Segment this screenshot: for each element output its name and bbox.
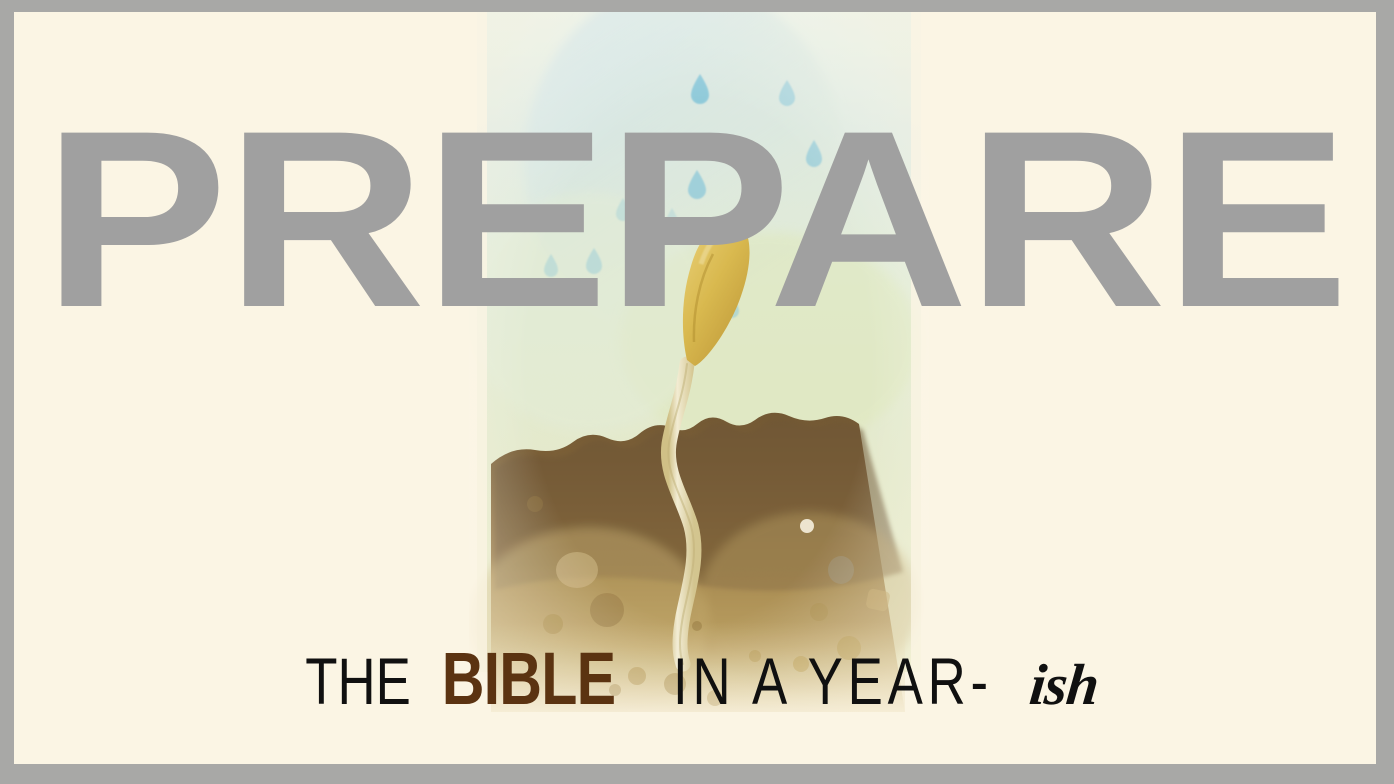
- page-title: PREPARE: [14, 104, 1376, 336]
- title-ish: ish: [1027, 656, 1101, 714]
- title-in-a-year: IN A YEAR-: [673, 648, 993, 714]
- paper-background: PREPARE THEBIBLEIN A YEAR-ish: [14, 12, 1376, 764]
- series-title: THEBIBLEIN A YEAR-ish: [14, 642, 1376, 716]
- title-the: THE: [305, 648, 411, 714]
- slide-canvas: PREPARE THEBIBLEIN A YEAR-ish: [0, 0, 1394, 784]
- title-bible: BIBLE: [441, 642, 615, 716]
